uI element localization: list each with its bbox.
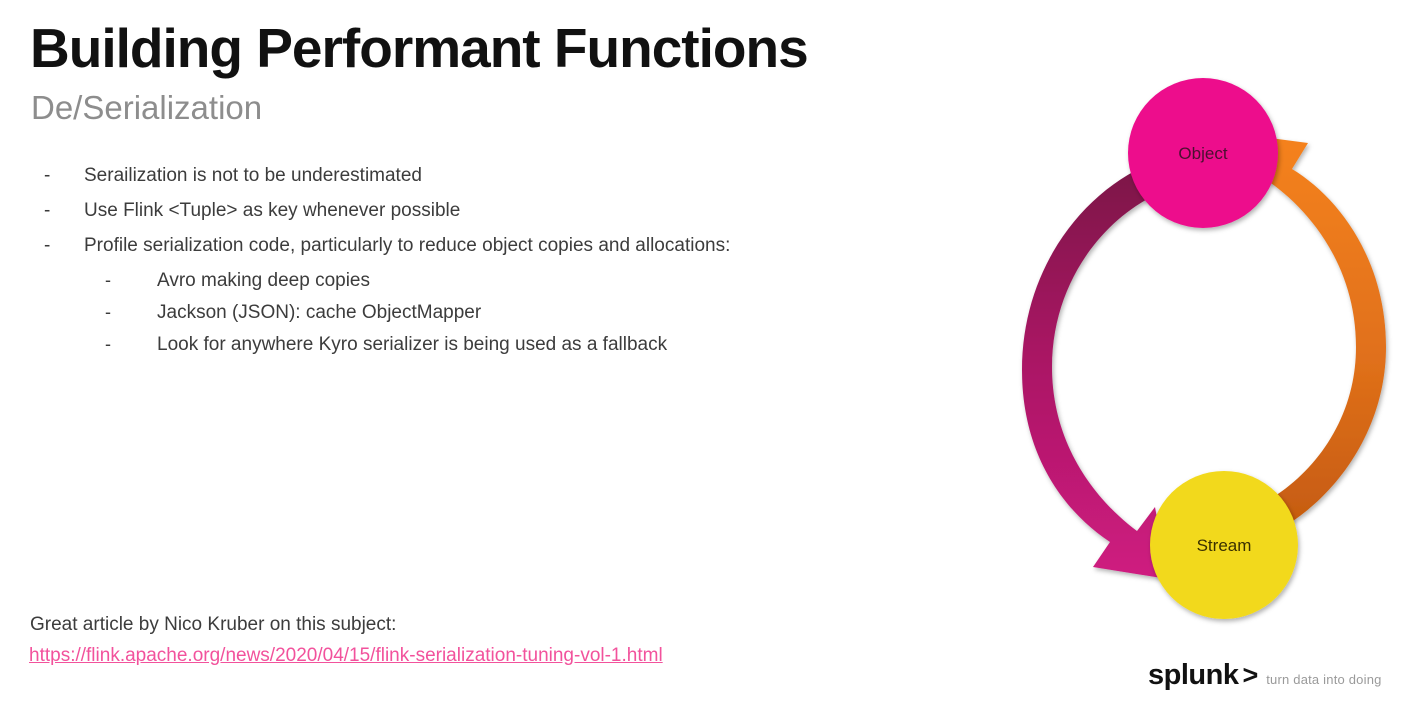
list-item-label: Jackson (JSON): cache ObjectMapper bbox=[157, 302, 481, 323]
article-link[interactable]: https://flink.apache.org/news/2020/04/15… bbox=[29, 643, 663, 669]
footer-note: Great article by Nico Kruber on this sub… bbox=[30, 612, 396, 638]
page-title: Building Performant Functions bbox=[30, 20, 808, 78]
bullet-marker-icon: - bbox=[30, 302, 157, 323]
list-item-label: Use Flink <Tuple> as key whenever possib… bbox=[84, 200, 460, 222]
bullet-marker-icon: - bbox=[30, 334, 157, 355]
bullet-marker-icon: - bbox=[30, 270, 157, 291]
serialization-cycle-diagram: Object Stream bbox=[1000, 55, 1423, 635]
list-item: - Profile serialization code, particular… bbox=[30, 235, 930, 257]
list-item-label: Look for anywhere Kyro serializer is bei… bbox=[157, 334, 667, 355]
list-item: - Look for anywhere Kyro serializer is b… bbox=[30, 334, 930, 355]
list-item: - Avro making deep copies bbox=[30, 270, 930, 291]
list-item: - Jackson (JSON): cache ObjectMapper bbox=[30, 302, 930, 323]
list-item-label: Serailization is not to be underestimate… bbox=[84, 165, 422, 187]
node-stream-label: Stream bbox=[1197, 536, 1252, 555]
list-item-label: Profile serialization code, particularly… bbox=[84, 235, 730, 257]
list-item: - Serailization is not to be underestima… bbox=[30, 165, 930, 187]
splunk-logo: splunk > turn data into doing bbox=[1148, 661, 1382, 690]
list-item-label: Avro making deep copies bbox=[157, 270, 370, 291]
bullet-marker-icon: - bbox=[30, 235, 84, 257]
node-object-label: Object bbox=[1178, 144, 1227, 163]
bullet-marker-icon: - bbox=[30, 165, 84, 187]
serialize-arrow bbox=[1022, 158, 1175, 579]
chevron-right-icon: > bbox=[1242, 662, 1258, 689]
splunk-tagline: turn data into doing bbox=[1266, 673, 1381, 686]
splunk-wordmark: splunk bbox=[1148, 661, 1238, 690]
page-subtitle: De/Serialization bbox=[31, 90, 262, 126]
node-stream[interactable]: Stream bbox=[1150, 471, 1298, 619]
bullet-list: - Serailization is not to be underestima… bbox=[30, 165, 930, 366]
list-item: - Use Flink <Tuple> as key whenever poss… bbox=[30, 200, 930, 222]
node-object[interactable]: Object bbox=[1128, 78, 1278, 228]
bullet-marker-icon: - bbox=[30, 200, 84, 222]
